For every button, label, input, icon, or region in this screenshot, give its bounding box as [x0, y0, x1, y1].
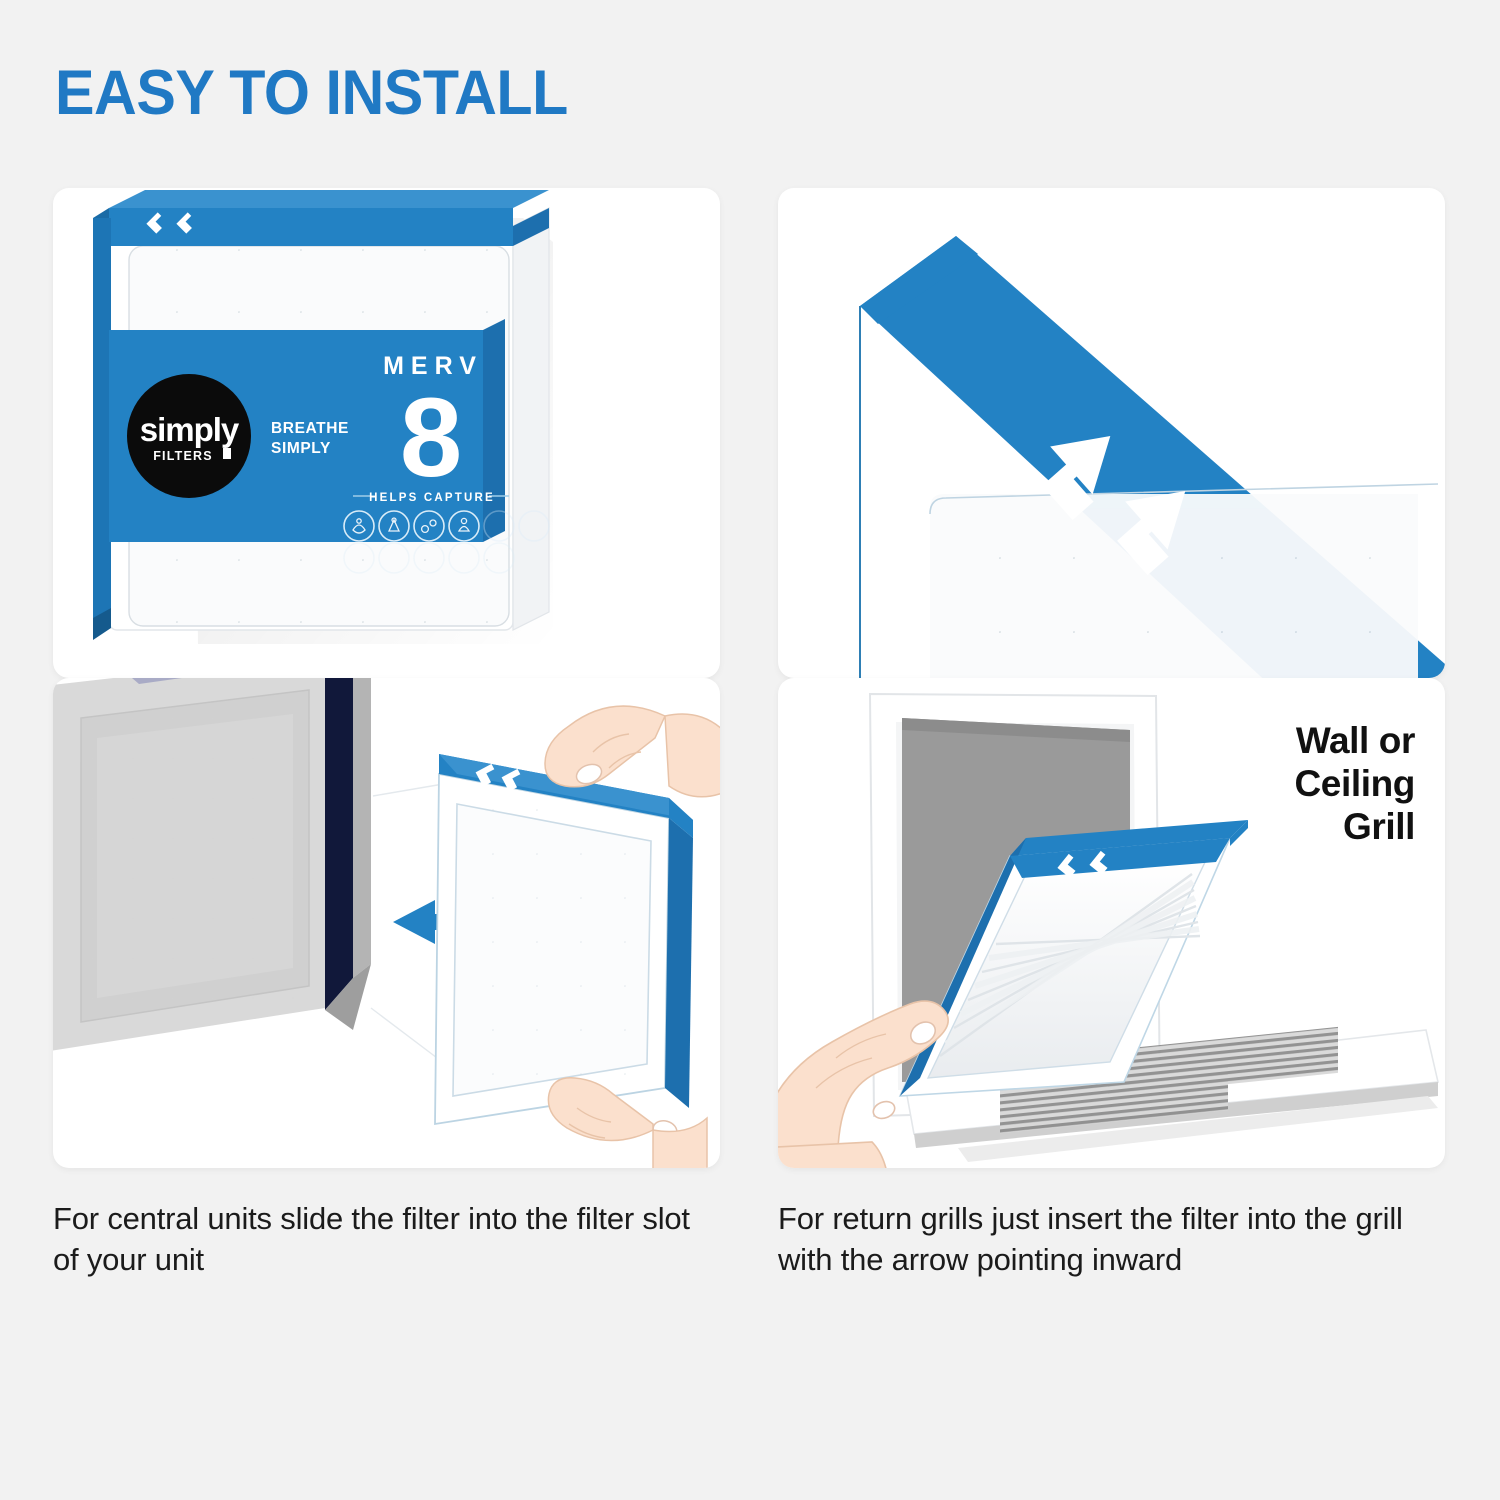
- svg-text:8: 8: [400, 375, 462, 500]
- filter-box-packaging-illustration: simply FILTERS BREATHE SIMPLY MERV 8 HEL…: [53, 188, 720, 678]
- central-unit-slide-illustration: [53, 678, 720, 1168]
- step-1-card: simply FILTERS BREATHE SIMPLY MERV 8 HEL…: [53, 188, 720, 678]
- steps-grid: simply FILTERS BREATHE SIMPLY MERV 8 HEL…: [53, 188, 1445, 1448]
- wall-or-ceiling-grill-callout: Wall or Ceiling Grill: [1294, 720, 1415, 849]
- step-4-caption: For return grills just insert the filter…: [778, 1168, 1418, 1280]
- svg-text:simply: simply: [140, 411, 240, 448]
- step-3-card: [53, 678, 720, 1168]
- step-1: simply FILTERS BREATHE SIMPLY MERV 8 HEL…: [53, 188, 720, 678]
- page-title: EASY TO INSTALL: [55, 62, 568, 125]
- step-2-card: [778, 188, 1445, 678]
- step-4-card: Wall or Ceiling Grill: [778, 678, 1445, 1168]
- callout-line-1: Wall or: [1294, 720, 1415, 763]
- svg-text:SIMPLY: SIMPLY: [271, 440, 331, 457]
- step-3-caption: For central units slide the filter into …: [53, 1168, 693, 1280]
- step-3: For central units slide the filter into …: [53, 678, 720, 1448]
- infographic-page: EASY TO INSTALL: [0, 0, 1500, 1500]
- svg-text:HELPS CAPTURE: HELPS CAPTURE: [369, 492, 495, 504]
- step-2: Locate the arrow & point it in the direc…: [778, 188, 1445, 678]
- filter-corner-arrows-illustration: [778, 188, 1445, 678]
- step-4: Wall or Ceiling Grill For return grills …: [778, 678, 1445, 1448]
- svg-text:BREATHE: BREATHE: [271, 420, 349, 437]
- callout-line-3: Grill: [1294, 806, 1415, 849]
- callout-line-2: Ceiling: [1294, 763, 1415, 806]
- hand-top: [545, 706, 720, 797]
- svg-text:FILTERS: FILTERS: [153, 449, 213, 463]
